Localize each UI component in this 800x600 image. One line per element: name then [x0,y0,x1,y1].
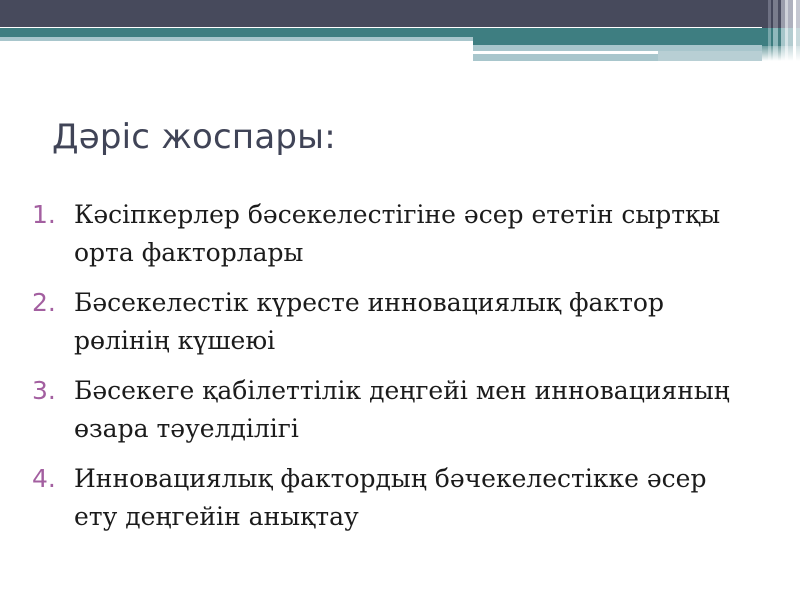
slide-numbered-list: 1. Кәсіпкерлер бәсекелестігіне әсер етет… [22,196,762,548]
decorative-header-banner [0,0,800,70]
list-item-text: Бәсекеге қабілеттілік деңгейі мен иннова… [74,372,734,448]
banner-band-pale-lower [473,54,658,61]
banner-band-pale-upper-left [0,37,473,41]
list-item-number: 4. [22,460,74,498]
slide-title: Дәріс жоспары: [52,117,336,157]
banner-stripes-fade [762,46,800,61]
list-item-text: Кәсіпкерлер бәсекелестігіне әсер ететін … [74,196,734,272]
list-item: 2. Бәсекелестік күресте инновациялық фак… [22,284,762,360]
presentation-slide: Дәріс жоспары: 1. Кәсіпкерлер бәсекелест… [0,0,800,600]
list-item: 1. Кәсіпкерлер бәсекелестігіне әсер етет… [22,196,762,272]
list-item-number: 1. [22,196,74,234]
banner-band-teal-right [473,28,800,45]
list-item: 3. Бәсекеге қабілеттілік деңгейі мен инн… [22,372,762,448]
list-item-number: 3. [22,372,74,410]
list-item: 4. Инновациялық фактордың бәчекелестікке… [22,460,762,536]
list-item-text: Бәсекелестік күресте инновациялық фактор… [74,284,734,360]
list-item-number: 2. [22,284,74,322]
list-item-text: Инновациялық фактордың бәчекелестікке әс… [74,460,734,536]
banner-band-dark [0,0,800,27]
